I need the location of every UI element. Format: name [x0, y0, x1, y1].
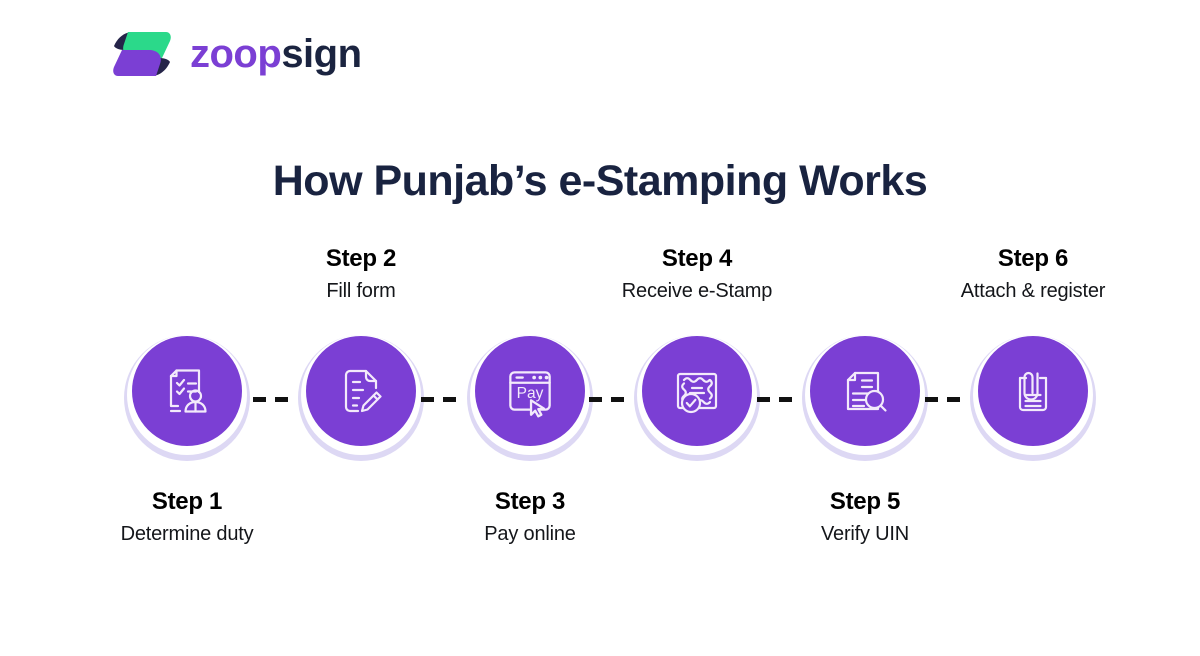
timeline-step-6[interactable]: Step 6 Attach & register — [928, 232, 1138, 572]
step-1-icon-badge[interactable] — [124, 335, 250, 461]
document-pencil-icon — [332, 362, 390, 420]
zoopsign-logo-mark-icon — [108, 28, 176, 80]
step-4-circle[interactable] — [642, 336, 752, 446]
checklist-person-icon — [158, 362, 216, 420]
step-3-circle[interactable]: Pay — [475, 336, 585, 446]
browser-pay-cursor-icon: Pay — [500, 361, 560, 421]
step-3-icon-badge[interactable]: Pay — [467, 335, 593, 461]
step-2-icon-badge[interactable] — [298, 335, 424, 461]
step-6-circle[interactable] — [978, 336, 1088, 446]
brand-wordmark-zoop: zoop — [190, 32, 281, 76]
step-6-icon-badge[interactable] — [970, 335, 1096, 461]
document-paperclip-icon — [1004, 362, 1062, 420]
page-title: How Punjab’s e-Stamping Works — [0, 157, 1200, 206]
step-6-number: Step 6 — [928, 244, 1138, 274]
brand-wordmark-sign: sign — [281, 32, 361, 76]
step-5-circle[interactable] — [810, 336, 920, 446]
steps-timeline: Step 1 Determine duty — [0, 232, 1200, 572]
stamp-check-icon — [668, 362, 726, 420]
brand-logo[interactable]: zoopsign — [108, 28, 362, 80]
step-5-icon-badge[interactable] — [802, 335, 928, 461]
step-2-circle[interactable] — [306, 336, 416, 446]
step-4-icon-badge[interactable] — [634, 335, 760, 461]
document-magnifier-icon — [836, 362, 894, 420]
step-1-circle[interactable] — [132, 336, 242, 446]
step-6-description: Attach & register — [928, 278, 1138, 304]
brand-wordmark: zoopsign — [190, 34, 362, 74]
step-6-caption: Step 6 Attach & register — [928, 244, 1138, 304]
